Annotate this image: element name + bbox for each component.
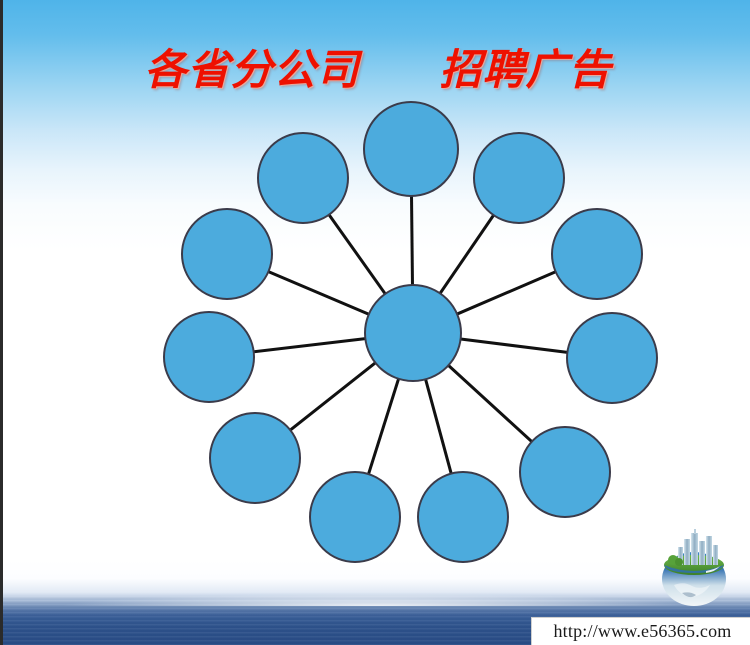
node-lower-left[interactable] [210,413,300,503]
horizon-glow [3,588,750,606]
node-left-upper[interactable] [182,209,272,299]
node-upper-left[interactable] [258,133,348,223]
spoke-line-7 [369,379,399,474]
node-top[interactable] [364,102,458,196]
slide-title: 各省分公司招聘广告 [3,36,750,97]
spoke-line-11 [329,215,385,294]
node-bottom-right[interactable] [418,472,508,562]
watermark-url: http://www.e56365.com [553,621,731,642]
node-right-upper[interactable] [552,209,642,299]
slide-canvas: 各省分公司招聘广告 [0,0,750,645]
spoke-line-1 [412,196,413,285]
globe-city-logo [648,527,740,609]
title-part-recruitment: 招聘广告 [440,36,612,97]
title-part-company: 各省分公司 [144,36,359,97]
diagram-hub-node[interactable] [365,285,461,381]
watermark-box: http://www.e56365.com [531,617,750,645]
spoke-line-8 [290,363,375,430]
spoke-line-5 [448,365,531,441]
spoke-line-4 [461,339,568,352]
node-group [164,102,657,562]
spoke-line-3 [457,272,556,314]
tree-icon [675,558,683,566]
node-right-lower[interactable] [567,313,657,403]
spoke-line-10 [268,272,368,315]
hub-and-spoke-diagram [153,90,673,580]
node-lower-right[interactable] [520,427,610,517]
spoke-line-6 [426,379,452,473]
node-bottom-left[interactable] [310,472,400,562]
spoke-line-9 [254,339,366,352]
node-upper-right[interactable] [474,133,564,223]
node-left-lower[interactable] [164,312,254,402]
city-skyline [678,529,718,565]
spoke-line-2 [440,215,494,293]
